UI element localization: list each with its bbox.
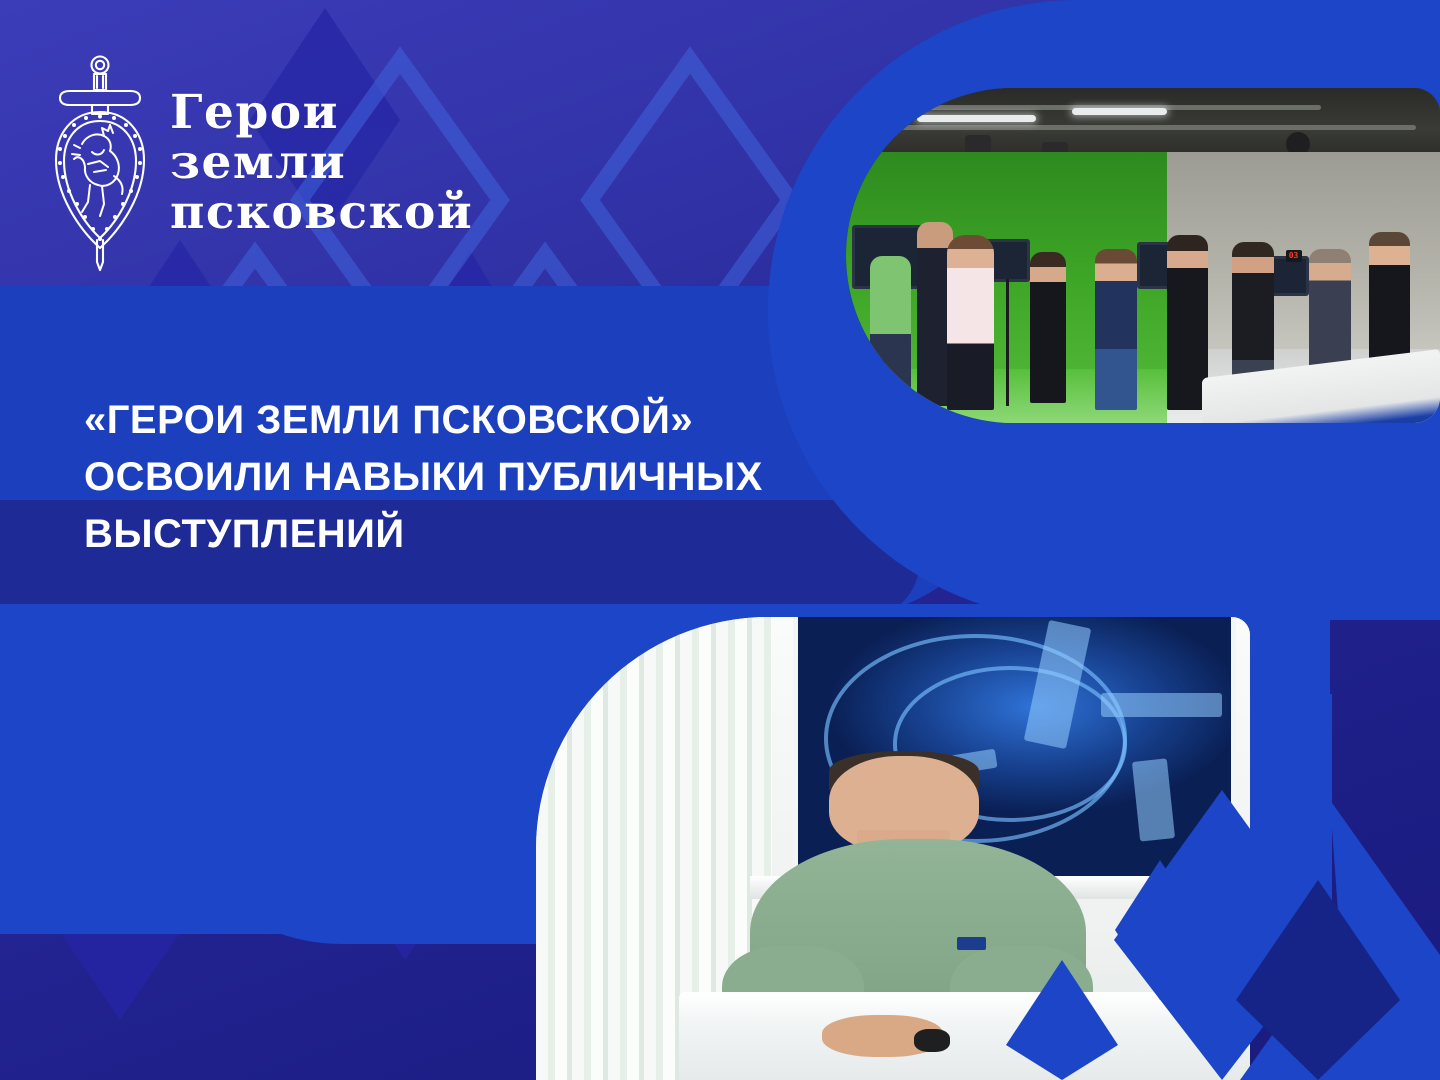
screen-graphic-bar <box>1101 693 1222 717</box>
headline-line-3: ВЫСТУПЛЕНИЙ <box>84 506 914 563</box>
leopard-figure-icon <box>72 125 123 216</box>
page-title: «ГЕРОИ ЗЕМЛИ ПСКОВСКОЙ» ОСВОИЛИ НАВЫКИ П… <box>84 392 914 564</box>
tripod-icon <box>1006 279 1009 406</box>
sweater-logo-icon <box>957 937 986 951</box>
clock-value: 03 <box>1286 250 1302 262</box>
person-body <box>1030 252 1066 403</box>
person-figure <box>870 256 912 407</box>
interview-man-photo <box>536 617 1250 1080</box>
person-body <box>947 235 995 409</box>
person-figure <box>1030 252 1066 403</box>
studio-ceiling <box>846 88 1440 158</box>
studio-clock: 03 <box>1286 250 1302 262</box>
person-figure <box>1095 249 1137 410</box>
studio-scene: 03 <box>846 88 1440 423</box>
tv-studio-group-photo: 03 <box>846 88 1440 423</box>
wristwatch-icon <box>914 1029 950 1052</box>
person-body <box>1095 249 1137 410</box>
person-figure <box>947 235 995 409</box>
ceiling-pipe-icon <box>870 125 1416 130</box>
headline-line-1: «ГЕРОИ ЗЕМЛИ ПСКОВСКОЙ» <box>84 392 914 449</box>
brand-wordmark: Герои земли псковской <box>170 89 473 237</box>
interview-room-scene <box>536 617 1250 1080</box>
brand-word-3: псковской <box>170 189 473 237</box>
person-body <box>870 256 912 407</box>
headline-line-2: ОСВОИЛИ НАВЫКИ ПУБЛИЧНЫХ <box>84 449 914 506</box>
screen-graphic-bar <box>1131 758 1174 842</box>
brand-logo: Герои земли псковской <box>44 52 473 274</box>
brand-word-1: Герои <box>170 89 473 137</box>
brand-word-2: земли <box>170 139 473 187</box>
fluorescent-tube-icon <box>1072 108 1167 115</box>
poster-canvas: 03 <box>0 0 1440 1080</box>
interview-table <box>679 992 1250 1080</box>
sword-shield-leopard-crest-icon <box>44 52 156 274</box>
fluorescent-tube-icon <box>917 115 1036 122</box>
